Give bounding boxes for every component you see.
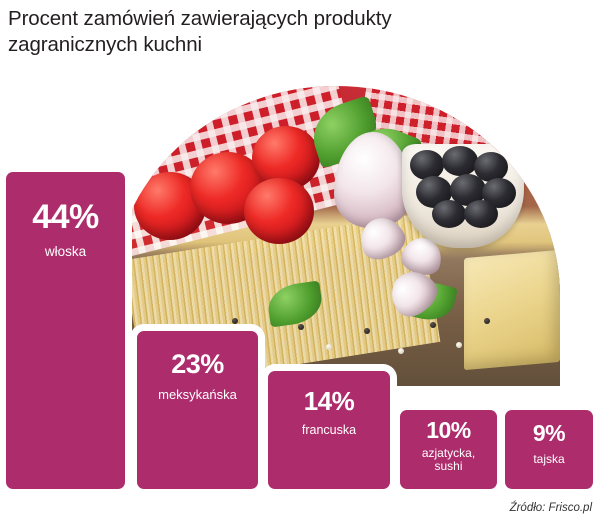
peppercorn-icon bbox=[298, 324, 304, 330]
olive-icon bbox=[432, 200, 466, 228]
bar-value-azjatycka-sushi: 10% bbox=[400, 419, 497, 442]
bar-azjatycka-sushi: 10% azjatycka, sushi bbox=[400, 410, 497, 489]
peppercorn-icon bbox=[258, 334, 264, 340]
bar-meksykanska: 23% meksykańska bbox=[137, 331, 258, 489]
peppercorn-icon bbox=[232, 318, 238, 324]
cheese-wedge bbox=[464, 250, 560, 370]
bar-label-meksykanska: meksykańska bbox=[137, 388, 258, 403]
peppercorn-icon bbox=[484, 318, 490, 324]
bar-francuska: 14% francuska bbox=[268, 371, 390, 489]
olive-bowl bbox=[402, 144, 524, 248]
source-attribution: Źródło: Frisco.pl bbox=[510, 502, 592, 514]
bar-value-francuska: 14% bbox=[268, 388, 390, 414]
bar-tajska: 9% tajska bbox=[505, 410, 593, 489]
page-title: Procent zamówień zawierających produkty … bbox=[8, 6, 548, 58]
bar-label-azjatycka-sushi: azjatycka, sushi bbox=[400, 447, 497, 474]
tomato-icon bbox=[244, 178, 314, 244]
bar-wloska: 44% włoska bbox=[6, 172, 125, 489]
olive-icon bbox=[410, 150, 444, 180]
peppercorn-icon bbox=[430, 322, 436, 328]
olive-icon bbox=[442, 146, 478, 176]
bar-label-wloska: włoska bbox=[6, 244, 125, 259]
olive-icon bbox=[464, 200, 498, 228]
peppercorn-icon bbox=[326, 344, 332, 350]
bar-value-meksykanska: 23% bbox=[137, 351, 258, 378]
peppercorn-icon bbox=[398, 348, 404, 354]
peppercorn-icon bbox=[456, 342, 462, 348]
peppercorn-icon bbox=[364, 328, 370, 334]
bar-value-wloska: 44% bbox=[6, 200, 125, 234]
bar-label-francuska: francuska bbox=[268, 423, 390, 437]
bar-value-tajska: 9% bbox=[505, 422, 593, 445]
bar-label-tajska: tajska bbox=[505, 453, 593, 466]
